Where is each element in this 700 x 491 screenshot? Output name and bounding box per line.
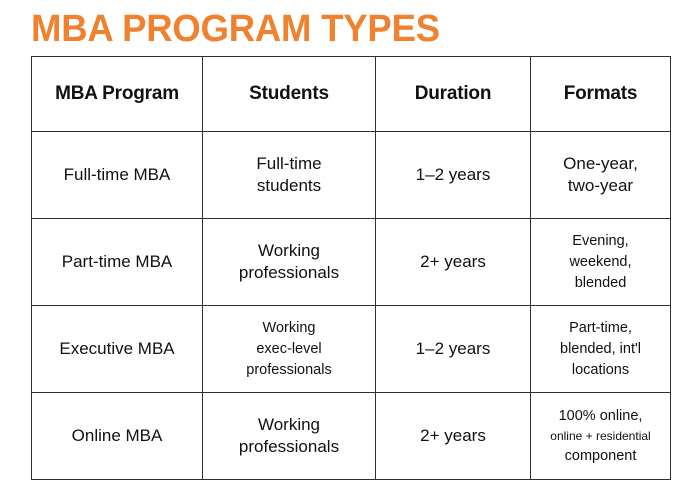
- cell-program: Online MBA: [32, 393, 203, 480]
- cell-formats: One-year, two-year: [531, 132, 671, 219]
- cell-line: Working: [207, 414, 371, 436]
- cell-students: Working professionals: [203, 219, 376, 306]
- cell-program: Full-time MBA: [32, 132, 203, 219]
- cell-line: Part-time,: [535, 318, 666, 339]
- cell-formats: 100% online, online + residential compon…: [531, 393, 671, 480]
- cell-program: Executive MBA: [32, 306, 203, 393]
- mba-program-types-table: MBA Program Students Duration Formats Fu…: [31, 56, 671, 480]
- cell-line: two-year: [535, 175, 666, 197]
- table-row: Full-time MBA Full-time students 1–2 yea…: [32, 132, 671, 219]
- cell-line: professionals: [207, 262, 371, 284]
- table-row: Online MBA Working professionals 2+ year…: [32, 393, 671, 480]
- table-row: Executive MBA Working exec-level profess…: [32, 306, 671, 393]
- cell-line: Working: [207, 318, 371, 339]
- cell-line: professionals: [207, 360, 371, 381]
- cell-line: locations: [535, 360, 666, 381]
- cell-line: weekend,: [535, 252, 666, 273]
- cell-duration: 1–2 years: [376, 132, 531, 219]
- cell-line: component: [535, 446, 666, 467]
- cell-line: 100% online,: [535, 406, 666, 427]
- cell-line: blended: [535, 273, 666, 294]
- table-row: Part-time MBA Working professionals 2+ y…: [32, 219, 671, 306]
- table-header-row: MBA Program Students Duration Formats: [32, 57, 671, 132]
- cell-formats: Evening, weekend, blended: [531, 219, 671, 306]
- cell-duration: 1–2 years: [376, 306, 531, 393]
- column-header-formats: Formats: [531, 57, 671, 132]
- page-title: MBA PROGRAM TYPES: [31, 7, 440, 51]
- cell-students: Working exec-level professionals: [203, 306, 376, 393]
- column-header-duration: Duration: [376, 57, 531, 132]
- cell-line: Working: [207, 240, 371, 262]
- cell-line: exec-level: [207, 339, 371, 360]
- cell-line: One-year,: [535, 153, 666, 175]
- cell-formats: Part-time, blended, int'l locations: [531, 306, 671, 393]
- cell-line: blended, int'l: [535, 339, 666, 360]
- cell-program: Part-time MBA: [32, 219, 203, 306]
- cell-line: professionals: [207, 436, 371, 458]
- cell-students: Full-time students: [203, 132, 376, 219]
- cell-line: students: [207, 175, 371, 197]
- cell-duration: 2+ years: [376, 393, 531, 480]
- column-header-students: Students: [203, 57, 376, 132]
- cell-line: online + residential: [535, 427, 666, 446]
- column-header-mba-program: MBA Program: [32, 57, 203, 132]
- cell-line: Evening,: [535, 231, 666, 252]
- cell-duration: 2+ years: [376, 219, 531, 306]
- cell-line: Full-time: [207, 153, 371, 175]
- cell-students: Working professionals: [203, 393, 376, 480]
